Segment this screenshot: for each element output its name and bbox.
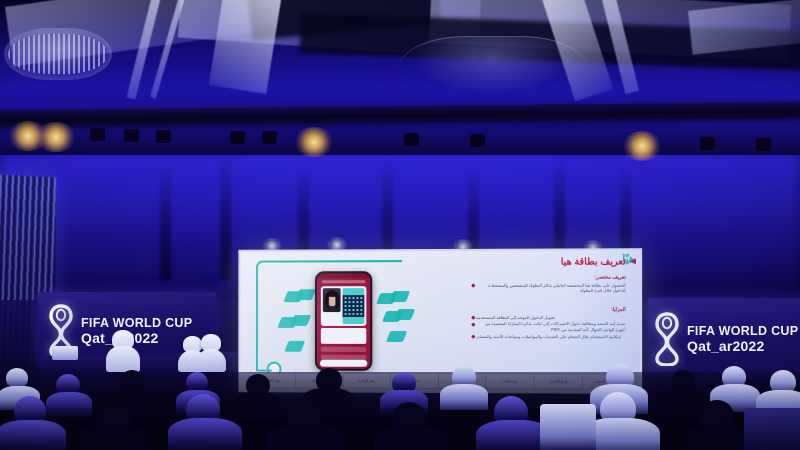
qatar-2022-wordmark-right: Qat_ar2022	[687, 339, 798, 353]
qatar-2022-wordmark-left: Qat_ar2022	[81, 331, 192, 345]
screen-downlight	[330, 239, 343, 247]
attendee-shoulders	[234, 392, 282, 418]
list-item	[321, 347, 366, 352]
attendee-shoulders	[662, 388, 706, 414]
stage-lamp	[470, 134, 485, 147]
phone-status-bar	[317, 273, 370, 278]
attendee-shoulders	[266, 424, 344, 450]
slide-section-definition: تعريف مختصر: الحصول على بطاقة هيا المخصص…	[472, 275, 626, 295]
bullet-icon	[471, 335, 475, 339]
attendee-shoulders	[440, 384, 488, 410]
bullet-text: إمكانية الاستخدام خلال الحجام على الخدما…	[476, 334, 621, 340]
slide-section-benefits: المزايا: تخويل الدخول الموحد إلى البطاقة…	[472, 307, 626, 341]
chair-back	[540, 404, 596, 450]
attendee-shoulders	[78, 424, 150, 450]
podium-small	[52, 346, 78, 360]
attendee-shoulders	[168, 418, 242, 450]
bullet-icon	[471, 283, 475, 287]
chandelier	[4, 28, 112, 80]
slide-content: هيّا	[240, 250, 640, 392]
attendee-shoulders	[46, 392, 92, 418]
stage-lamp	[404, 133, 419, 146]
chair-back	[744, 408, 800, 450]
qatar-2022-emblem-icon	[654, 312, 680, 366]
attendee-head	[6, 368, 28, 388]
app-header-bar	[322, 280, 366, 283]
stage-lamp	[262, 131, 277, 144]
attendee-shoulders	[374, 426, 448, 450]
stage-lamp	[306, 132, 321, 145]
fifa-wordmark-left: FIFA WORLD CUP	[81, 317, 192, 330]
stage-lamp	[156, 130, 171, 143]
screen-downlight	[456, 241, 469, 249]
stage-lamp	[756, 138, 771, 151]
diamond-decoration	[389, 291, 410, 302]
hayya-app-screen	[317, 273, 370, 369]
stage-lamp	[634, 136, 649, 149]
stage-lamp	[700, 137, 715, 150]
stage-lamp	[48, 127, 63, 140]
bullet-item: الحصول على بطاقة هيا المخصصة لحاملي تذاك…	[472, 282, 626, 294]
digital-id-card	[321, 286, 366, 326]
id-detail-lines	[321, 328, 366, 344]
bullet-icon	[471, 315, 475, 319]
stage-lamp	[20, 126, 35, 139]
bullet-text: الحصول على بطاقة هيا المخصصة لحاملي تذاك…	[476, 282, 626, 294]
diamond-decoration	[394, 309, 415, 320]
qr-code-panel	[343, 288, 365, 324]
fifa-wordmark-right: FIFA WORLD CUP	[687, 325, 798, 338]
qr-code	[343, 295, 365, 317]
slide-title: تعريف بطاقة هيا	[561, 256, 626, 267]
bullet-item: تمديد أمد الصحة ومخالفة دخول الاشتراكات …	[472, 321, 626, 332]
stage-lamp	[90, 128, 105, 141]
stage-lamp	[124, 129, 139, 142]
screen-downlight	[265, 240, 278, 248]
stage-lamp	[230, 131, 245, 144]
bullet-item: تخويل الدخول الموحد إلى البطاقة المستخدم…	[472, 314, 626, 320]
section-heading: المزايا:	[472, 307, 626, 313]
bullet-text: تخويل الدخول الموحد إلى البطاقة المستخدم…	[476, 314, 555, 320]
bullet-text: تمديد أمد الصحة ومخالفة دخول الاشتراكات …	[476, 321, 626, 332]
section-heading: تعريف مختصر:	[472, 275, 626, 281]
user-portrait	[323, 288, 341, 312]
list-item	[321, 354, 366, 359]
phone-mockup	[315, 271, 372, 371]
phone-bottom-nav	[320, 360, 367, 367]
conference-hall-photo: FIFA WORLD CUP Qat_ar2022 FIFA WORLD CUP…	[0, 0, 800, 450]
fifa-board-right: FIFA WORLD CUP Qat_ar2022	[648, 298, 800, 374]
ceiling	[0, 0, 800, 155]
attendee-shoulders	[0, 420, 66, 450]
diamond-decoration	[386, 331, 407, 342]
title-arrow-icon	[630, 258, 636, 264]
bullet-icon	[471, 322, 475, 326]
bullet-item: إمكانية الاستخدام خلال الحجام على الخدما…	[472, 334, 626, 340]
